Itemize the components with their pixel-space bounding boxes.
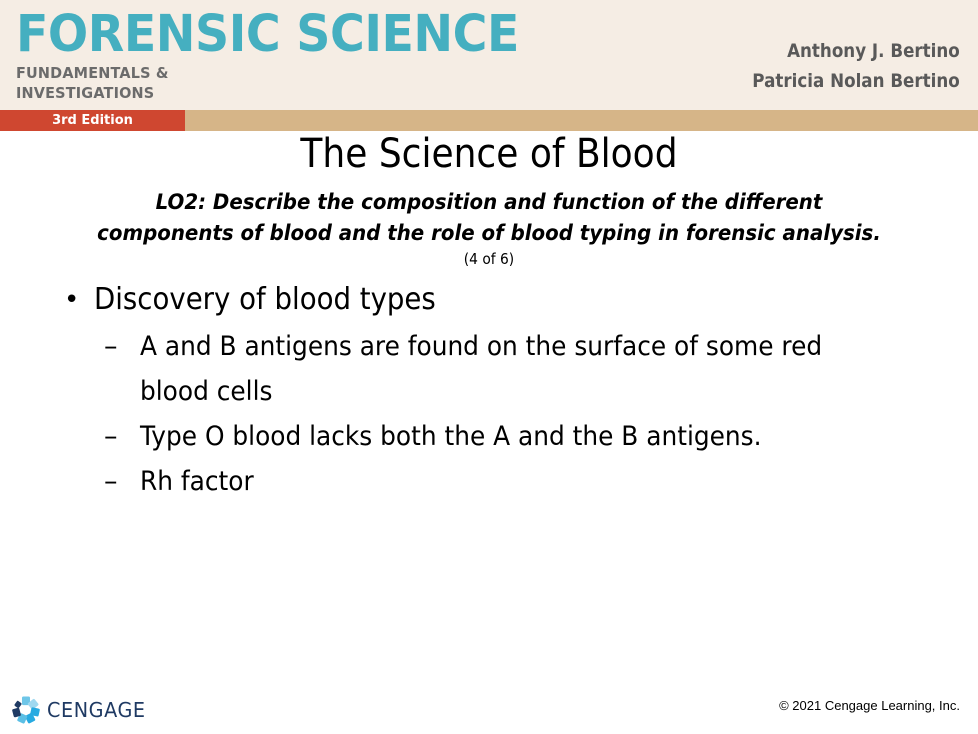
author-name-primary: Anthony J. Bertino	[753, 36, 960, 66]
bullet-text: Rh factor	[140, 459, 894, 504]
cengage-pinwheel-icon	[9, 693, 43, 727]
book-brand-block: FORENSIC SCIENCE FUNDAMENTALS & INVESTIG…	[16, 6, 557, 103]
bullet-text: A and B antigens are found on the surfac…	[140, 324, 894, 414]
brand-subtitle-line-2: INVESTIGATIONS	[16, 84, 519, 103]
slide-body-content: • Discovery of blood types – A and B ant…	[60, 278, 960, 504]
bullet-marker-dash: –	[104, 414, 118, 459]
learning-objective-line-2: blood and the role of blood typing in fo…	[270, 221, 881, 246]
copyright-notice: © 2021 Cengage Learning, Inc.	[779, 697, 960, 715]
bullet-marker-dash: –	[104, 459, 118, 504]
edition-badge-label: 3rd Edition	[0, 110, 185, 131]
bullet-text: Type O blood lacks both the A and the B …	[140, 414, 894, 459]
bullet-item-level2: – Type O blood lacks both the A and the …	[60, 414, 960, 459]
cengage-logo: CENGAGE	[9, 693, 149, 727]
bullet-item-level1: • Discovery of blood types	[60, 278, 960, 322]
bullet-item-level2: – A and B antigens are found on the surf…	[60, 324, 960, 414]
cengage-wordmark: CENGAGE	[47, 698, 146, 722]
presentation-slide: FORENSIC SCIENCE FUNDAMENTALS & INVESTIG…	[0, 0, 978, 734]
learning-objective: LO2: Describe the composition and functi…	[94, 187, 883, 249]
brand-subtitle-line-1: FUNDAMENTALS &	[16, 64, 519, 83]
slide-counter: (4 of 6)	[39, 250, 939, 269]
bullet-text: Discovery of blood types	[94, 278, 436, 322]
author-name-secondary: Patricia Nolan Bertino	[753, 66, 960, 96]
brand-title: FORENSIC SCIENCE	[16, 6, 519, 63]
bullet-marker-dot: •	[64, 278, 79, 322]
bullet-marker-dash: –	[104, 324, 118, 369]
bullet-item-level2: – Rh factor	[60, 459, 960, 504]
author-block: Anthony J. Bertino Patricia Nolan Bertin…	[724, 36, 960, 96]
page-title: The Science of Blood	[49, 130, 929, 178]
